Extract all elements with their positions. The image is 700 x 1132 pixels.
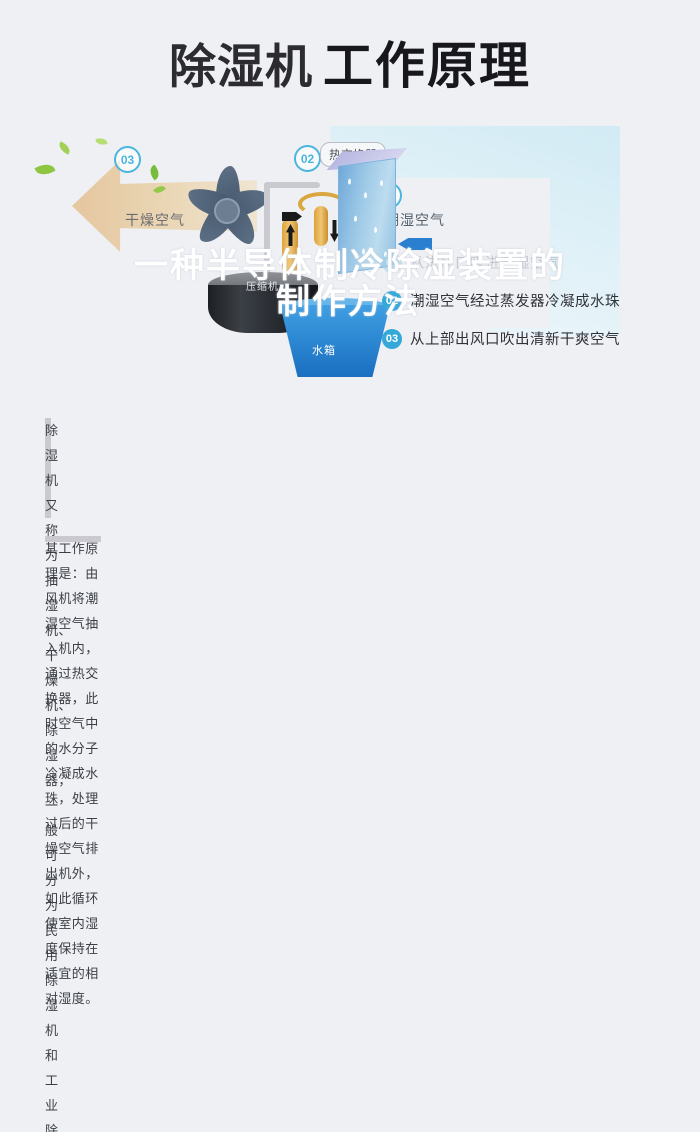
step-number: 01 <box>382 253 402 273</box>
pipe-vertical <box>264 182 270 282</box>
steps-list: 01 从进风口吸进潮湿空气 02 潮湿空气经过蒸发器冷凝成水珠 03 从上部出风… <box>382 252 620 366</box>
leaf-icon <box>147 165 162 181</box>
water-tank-label: 水箱 <box>312 342 336 358</box>
diagram-marker-02: 02 <box>294 145 321 172</box>
step-text: 潮湿空气经过蒸发器冷凝成水珠 <box>410 290 620 311</box>
title-part-two: 工作原理 <box>323 37 531 95</box>
water-droplet-icon <box>380 180 383 186</box>
leaf-icon <box>95 137 107 146</box>
fan-hub <box>214 198 240 224</box>
step-number: 03 <box>382 329 402 349</box>
description-paragraph-one: 除湿机又称为抽湿机、干燥机、除湿器，一般可分为民用除湿机和工业除湿机两大类，属于… <box>45 418 51 518</box>
step-text: 从进风口吸进潮湿空气 <box>410 252 560 273</box>
step-text: 从上部出风口吹出清新干爽空气 <box>410 328 620 349</box>
dehumidifier-diagram: 干燥空气 潮湿空气 03 02 01 热交换器 <box>0 120 700 400</box>
water-droplet-icon <box>348 178 351 184</box>
page-title: 除湿机工作原理 <box>0 26 700 98</box>
title-part-one: 除湿机 <box>169 40 313 95</box>
diagram-marker-03: 03 <box>114 146 141 173</box>
water-droplet-icon <box>364 192 367 198</box>
leaf-icon <box>35 161 56 179</box>
water-tank <box>280 305 390 377</box>
description-section: 除湿机又称为抽湿机、干燥机、除湿器，一般可分为民用除湿机和工业除湿机两大类，属于… <box>45 418 661 542</box>
pipe-horizontal <box>264 182 320 188</box>
infographic-page: 除湿机工作原理 干燥空气 潮湿空气 03 02 01 热交换器 <box>0 0 700 566</box>
compressor-label: 压缩机 <box>246 278 279 293</box>
water-droplet-icon <box>362 248 365 254</box>
water-droplet-icon <box>374 227 377 233</box>
list-item: 03 从上部出风口吹出清新干爽空气 <box>382 328 620 349</box>
water-droplet-icon <box>354 215 357 221</box>
leaf-icon <box>57 141 72 154</box>
list-item: 02 潮湿空气经过蒸发器冷凝成水珠 <box>382 290 620 311</box>
step-number: 02 <box>382 291 402 311</box>
list-item: 01 从进风口吸进潮湿空气 <box>382 252 620 273</box>
description-paragraph-two: 其工作原理是：由风机将潮湿空气抽入机内，通过热交换器，此时空气中的水分子冷凝成水… <box>45 536 101 542</box>
